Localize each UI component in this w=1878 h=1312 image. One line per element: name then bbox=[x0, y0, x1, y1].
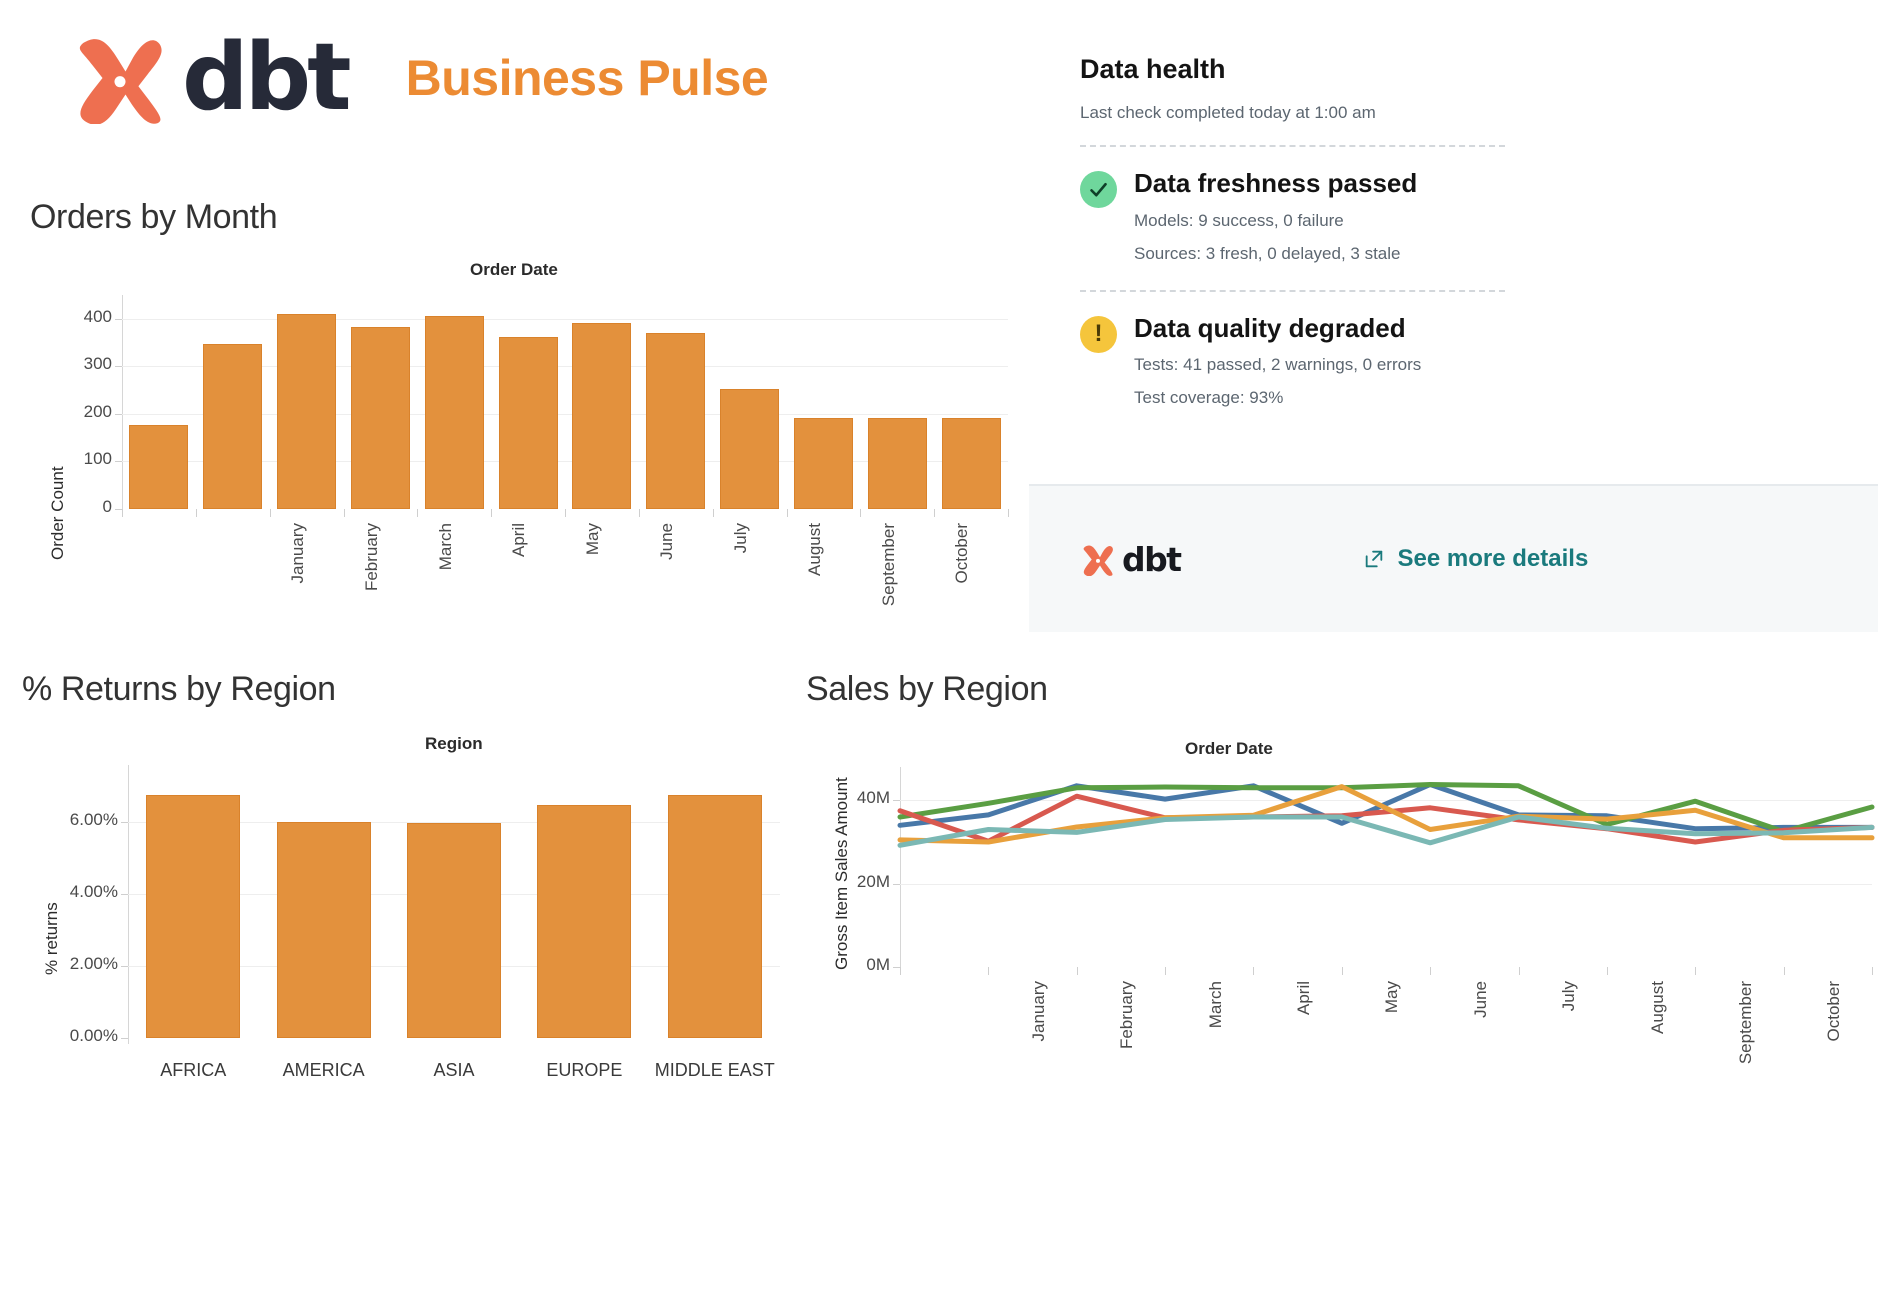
table-bar bbox=[277, 314, 336, 509]
orders-x-tick bbox=[1008, 509, 1009, 517]
returns-plot-area: 0.00%2.00%4.00%6.00%AFRICAAMERICAASIAEUR… bbox=[0, 720, 800, 1110]
orders-y-tick-label: 300 bbox=[48, 354, 112, 374]
orders-y-tick-label: 100 bbox=[48, 449, 112, 469]
dbt-x-logo-icon bbox=[72, 32, 168, 124]
dbt-details-card: dbt See more details bbox=[1029, 484, 1878, 632]
sales-x-tick bbox=[1253, 967, 1254, 975]
orders-y-tick-label: 0 bbox=[48, 497, 112, 517]
sales-x-tick-label: July bbox=[1559, 981, 1579, 1101]
orders-plot-area: 0100200300400JanuaryFebruaryMarchAprilMa… bbox=[0, 250, 1020, 650]
returns-y-tick-label: 6.00% bbox=[10, 810, 118, 830]
orders-x-tick bbox=[344, 509, 345, 517]
returns-section-title: % Returns by Region bbox=[22, 670, 336, 709]
orders-y-tick bbox=[115, 509, 122, 510]
see-more-details-label: See more details bbox=[1398, 545, 1589, 573]
returns-y-tick-label: 0.00% bbox=[10, 1026, 118, 1046]
sales-lines-group bbox=[810, 725, 1878, 1115]
sales-x-tick bbox=[988, 967, 989, 975]
health-item-heading: Data quality degraded bbox=[1134, 314, 1421, 343]
data-health-title: Data health bbox=[1080, 54, 1520, 85]
orders-x-tick bbox=[417, 509, 418, 517]
orders-x-tick bbox=[270, 509, 271, 517]
table-bar bbox=[720, 389, 779, 509]
sales-x-tick-label: June bbox=[1471, 981, 1491, 1101]
orders-y-axis bbox=[122, 295, 123, 515]
orders-x-tick bbox=[934, 509, 935, 517]
orders-x-tick-label: October bbox=[952, 523, 972, 643]
orders-y-tick bbox=[115, 461, 122, 462]
returns-y-tick bbox=[121, 822, 128, 823]
sales-x-tick-label: March bbox=[1206, 981, 1226, 1101]
page-title: Business Pulse bbox=[406, 49, 769, 107]
dbt-brand: dbt bbox=[72, 32, 348, 124]
sales-x-tick-label: April bbox=[1294, 981, 1314, 1101]
orders-x-tick bbox=[860, 509, 861, 517]
sales-x-tick bbox=[1430, 967, 1431, 975]
warning-circle-icon: ! bbox=[1080, 316, 1117, 353]
sales-x-tick bbox=[1519, 967, 1520, 975]
table-bar bbox=[203, 344, 262, 509]
table-bar bbox=[794, 418, 853, 509]
sales-x-tick bbox=[1695, 967, 1696, 975]
sales-x-tick-label: August bbox=[1648, 981, 1668, 1101]
sales-x-tick-label: February bbox=[1117, 981, 1137, 1101]
health-item-line-1: Models: 9 success, 0 failure bbox=[1134, 211, 1417, 231]
health-item-line-2: Test coverage: 93% bbox=[1134, 388, 1421, 408]
dashboard-root: dbt Business Pulse Orders by Month % Ret… bbox=[0, 0, 1878, 1312]
orders-gridline bbox=[122, 319, 1008, 320]
returns-by-region-chart: Region % returns 0.00%2.00%4.00%6.00%AFR… bbox=[0, 720, 800, 1110]
table-bar bbox=[351, 327, 410, 509]
table-bar bbox=[868, 418, 927, 509]
table-bar bbox=[425, 316, 484, 509]
returns-x-tick-label: AFRICA bbox=[128, 1060, 258, 1081]
table-bar bbox=[942, 418, 1001, 509]
sales-x-tick-label: September bbox=[1736, 981, 1756, 1101]
sales-x-tick-label: January bbox=[1029, 981, 1049, 1101]
orders-x-tick-label: March bbox=[436, 523, 456, 643]
orders-y-tick bbox=[115, 414, 122, 415]
returns-x-tick-label: EUROPE bbox=[519, 1060, 649, 1081]
returns-y-axis bbox=[128, 765, 129, 1044]
sales-x-tick bbox=[1607, 967, 1608, 975]
orders-x-tick-label: April bbox=[509, 523, 529, 643]
table-bar bbox=[668, 795, 762, 1038]
sales-x-tick-label: October bbox=[1824, 981, 1844, 1101]
dashboard-header: dbt Business Pulse bbox=[72, 32, 768, 124]
sales-by-region-chart: Order Date Gross Item Sales Amount 0M20M… bbox=[810, 725, 1878, 1115]
dbt-card-brand: dbt bbox=[1081, 540, 1181, 579]
table-bar bbox=[146, 795, 240, 1038]
returns-y-tick-label: 2.00% bbox=[10, 954, 118, 974]
orders-x-tick bbox=[787, 509, 788, 517]
see-more-details-link[interactable]: See more details bbox=[1363, 545, 1589, 573]
orders-x-tick bbox=[565, 509, 566, 517]
returns-y-tick bbox=[121, 966, 128, 967]
orders-by-month-chart: Order Date Order Count 0100200300400Janu… bbox=[0, 250, 1020, 650]
sales-x-tick bbox=[1077, 967, 1078, 975]
returns-x-tick-label: ASIA bbox=[389, 1060, 519, 1081]
health-item-line-2: Sources: 3 fresh, 0 delayed, 3 stale bbox=[1134, 244, 1417, 264]
returns-x-tick-label: MIDDLE EAST bbox=[650, 1060, 780, 1081]
orders-x-tick-label: February bbox=[362, 523, 382, 643]
table-bar bbox=[646, 333, 705, 509]
sales-plot-area: 0M20M40MJanuaryFebruaryMarchAprilMayJune… bbox=[810, 725, 1878, 1115]
sales-x-tick bbox=[1342, 967, 1343, 975]
orders-x-tick bbox=[491, 509, 492, 517]
sales-x-tick bbox=[1872, 967, 1873, 975]
orders-x-tick-label: August bbox=[805, 523, 825, 643]
health-item-freshness[interactable]: Data freshness passed Models: 9 success,… bbox=[1080, 169, 1520, 264]
health-item-quality[interactable]: ! Data quality degraded Tests: 41 passed… bbox=[1080, 314, 1520, 409]
data-health-subtitle: Last check completed today at 1:00 am bbox=[1080, 103, 1520, 123]
divider-2 bbox=[1080, 290, 1505, 292]
orders-x-tick bbox=[639, 509, 640, 517]
orders-x-tick bbox=[122, 509, 123, 517]
orders-y-tick bbox=[115, 366, 122, 367]
orders-x-tick-label: May bbox=[583, 523, 603, 643]
orders-y-tick-label: 400 bbox=[48, 307, 112, 327]
returns-x-tick-label: AMERICA bbox=[258, 1060, 388, 1081]
table-bar bbox=[572, 323, 631, 509]
returns-y-tick bbox=[121, 894, 128, 895]
orders-x-tick-label: June bbox=[657, 523, 677, 643]
sales-x-tick bbox=[1165, 967, 1166, 975]
dbt-card-wordmark: dbt bbox=[1122, 540, 1181, 579]
returns-y-tick bbox=[121, 1038, 128, 1039]
sales-x-tick bbox=[1784, 967, 1785, 975]
health-item-line-1: Tests: 41 passed, 2 warnings, 0 errors bbox=[1134, 355, 1421, 375]
orders-y-tick bbox=[115, 319, 122, 320]
table-bar bbox=[407, 823, 501, 1038]
table-bar bbox=[277, 822, 371, 1038]
returns-y-tick-label: 4.00% bbox=[10, 882, 118, 902]
dbt-wordmark: dbt bbox=[182, 36, 348, 120]
table-bar bbox=[537, 805, 631, 1038]
sales-x-tick-label: May bbox=[1382, 981, 1402, 1101]
health-item-heading: Data freshness passed bbox=[1134, 169, 1417, 198]
orders-x-tick-label: July bbox=[731, 523, 751, 643]
orders-x-tick-label: January bbox=[288, 523, 308, 643]
check-circle-icon bbox=[1080, 171, 1117, 208]
orders-x-tick-label: September bbox=[879, 523, 899, 643]
table-bar bbox=[129, 425, 188, 509]
sales-section-title: Sales by Region bbox=[806, 670, 1048, 709]
exclamation-glyph: ! bbox=[1095, 322, 1103, 346]
external-link-icon bbox=[1363, 548, 1385, 570]
data-health-panel: Data health Last check completed today a… bbox=[1080, 54, 1520, 408]
orders-y-tick-label: 200 bbox=[48, 402, 112, 422]
orders-section-title: Orders by Month bbox=[30, 198, 277, 237]
orders-x-tick bbox=[196, 509, 197, 517]
orders-x-tick bbox=[713, 509, 714, 517]
dbt-x-logo-icon bbox=[1081, 543, 1115, 576]
divider-1 bbox=[1080, 145, 1505, 147]
table-bar bbox=[499, 337, 558, 509]
sales-x-tick bbox=[900, 967, 901, 975]
